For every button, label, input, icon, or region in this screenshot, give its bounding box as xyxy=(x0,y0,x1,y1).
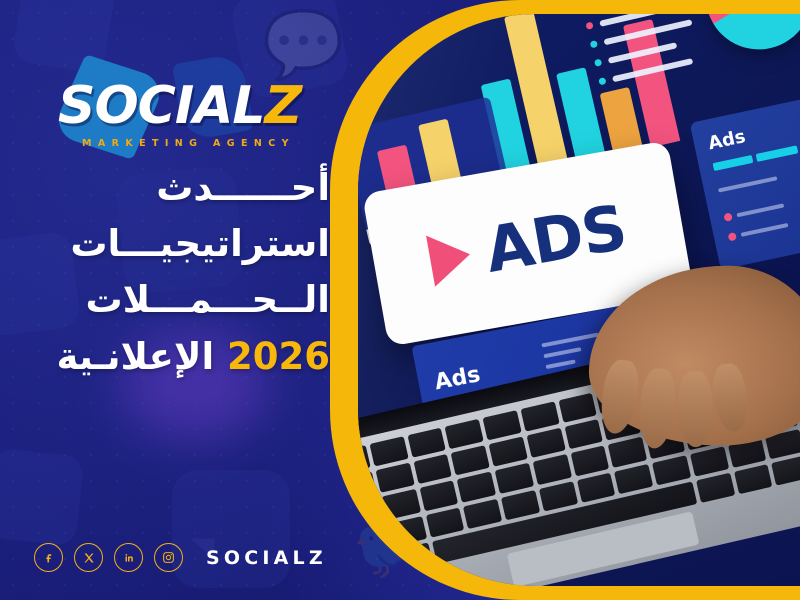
headline-year: 2026 xyxy=(227,335,330,378)
x-twitter-icon[interactable] xyxy=(74,543,103,572)
ads-sidebar-title: Ads xyxy=(706,126,747,154)
instagram-icon[interactable] xyxy=(154,543,183,572)
ads-sidebar-row xyxy=(723,201,784,222)
headline-line-1: أحــــــدث xyxy=(10,160,330,216)
brand-logo: SOCIALZ MARKETING AGENCY xyxy=(58,62,338,167)
photo-image: ADS Ads xyxy=(358,14,800,586)
photo-panel: ADS Ads xyxy=(330,0,800,600)
headline-line-4: 2026 الإعلانـية xyxy=(10,329,330,385)
poster-canvas: 💬 𝅑 🐦 SOCIALZ MARKETING AGENCY أحــــــد… xyxy=(0,0,800,600)
logo-wordmark-main: SOCIAL xyxy=(58,76,265,136)
play-triangle-icon xyxy=(426,228,474,286)
headline-line-3: الــحـــمـــلات xyxy=(10,272,330,328)
logo-wordmark-accent-z: Z xyxy=(265,76,302,136)
headline-line-4-text: الإعلانـية xyxy=(56,335,214,378)
footer-brand-text: SOCIALZ xyxy=(206,547,327,569)
headline-block: أحــــــدث استراتيجيـــات الــحـــمـــلا… xyxy=(10,160,330,385)
ads-sidebar-row xyxy=(728,221,789,242)
facebook-icon[interactable] xyxy=(34,543,63,572)
footer-bar: SOCIALZ xyxy=(34,543,327,572)
linkedin-icon[interactable] xyxy=(114,543,143,572)
logo-wordmark: SOCIALZ xyxy=(58,76,338,136)
headline-line-2: استراتيجيـــات xyxy=(10,216,330,272)
logo-tagline: MARKETING AGENCY xyxy=(82,138,332,149)
ads-sidebar-row xyxy=(718,176,778,192)
ads-card-text: ADS xyxy=(480,190,632,286)
